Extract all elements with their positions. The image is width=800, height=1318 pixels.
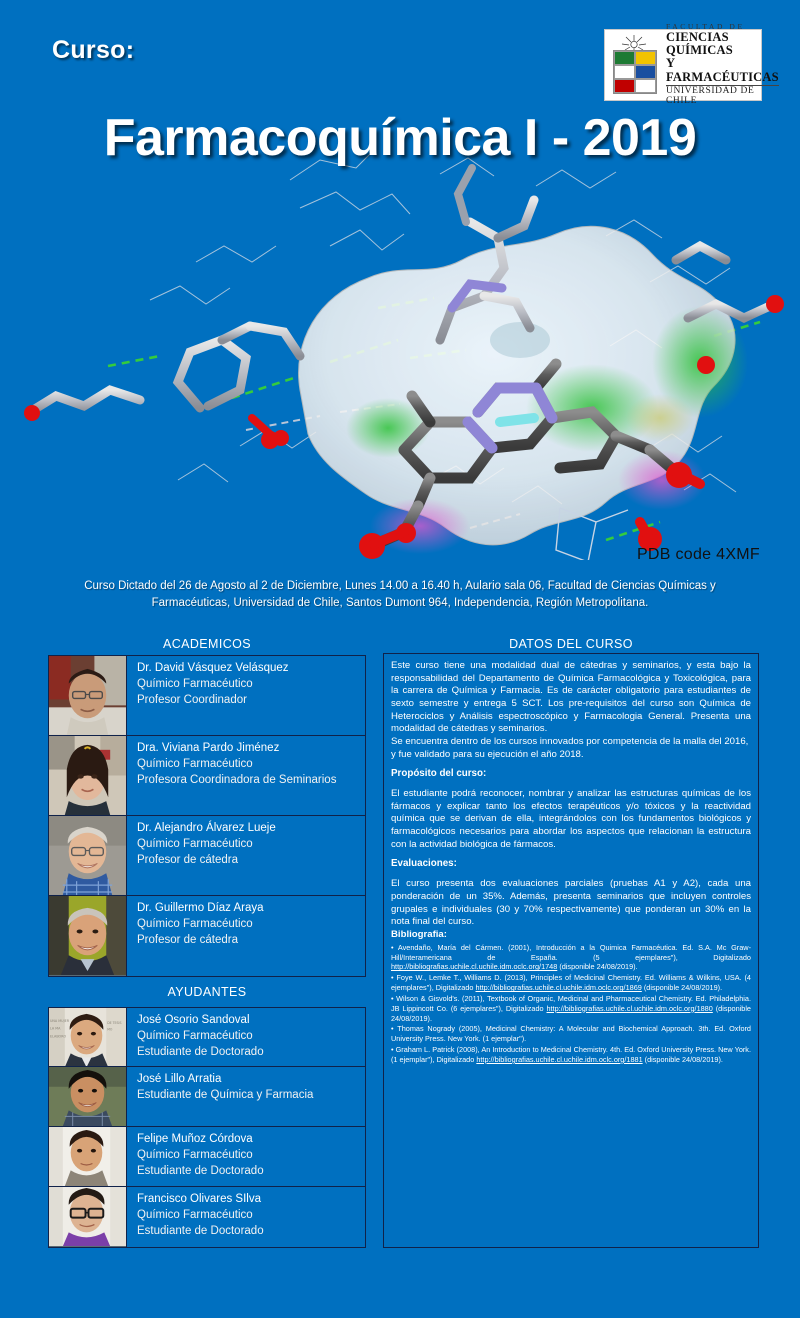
person-name: Dra. Viviana Pardo Jiménez <box>137 741 357 757</box>
table-row: UNA MUJERLA MAELABORO DE TESISMO José Os… <box>49 1008 365 1067</box>
bibliografia-link[interactable]: http://bibliografias.uchile.cl.uchile.id… <box>547 1004 713 1013</box>
logo-line-2: CIENCIAS QUÍMICAS <box>666 31 779 57</box>
person-details: Dr. David Vásquez Velásquez Químico Farm… <box>127 656 365 735</box>
svg-text:ELABORO: ELABORO <box>50 1035 67 1039</box>
person-role: Químico Farmacéutico <box>137 1029 357 1045</box>
bibliografia-item: • Wilson & Gisvold's. (2011), Textbook o… <box>391 994 751 1024</box>
person-name: Dr. Alejandro Álvarez Lueje <box>137 821 357 837</box>
person-role: Químico Farmacéutico <box>137 757 357 773</box>
person-position: Estudiante de Doctorado <box>137 1164 357 1180</box>
bibliografia-heading: Bibliografia: <box>391 929 751 942</box>
proposito-heading: Propósito del curso: <box>391 768 751 781</box>
logo-line-4: UNIVERSIDAD DE CHILE <box>666 85 779 107</box>
person-details: José Osorio Sandoval Químico Farmacéutic… <box>127 1008 365 1066</box>
curso-label: Curso: <box>52 36 134 65</box>
svg-text:DE TESIS: DE TESIS <box>107 1021 121 1025</box>
table-row: Dr. David Vásquez Velásquez Químico Farm… <box>49 656 365 736</box>
datos-curso-panel: Este curso tiene una modalidad dual de c… <box>383 653 759 1248</box>
person-name: José Osorio Sandoval <box>137 1013 357 1029</box>
person-role: Químico Farmacéutico <box>137 917 357 933</box>
table-row: Dr. Guillermo Díaz Araya Químico Farmacé… <box>49 896 365 976</box>
ayudantes-heading: AYUDANTES <box>48 985 366 999</box>
person-role: Estudiante de Química y Farmacia <box>137 1088 357 1104</box>
course-schedule-text: Curso Dictado del 26 de Agosto al 2 de D… <box>60 578 740 613</box>
portrait-photo <box>49 1127 126 1186</box>
bibliografia-item: • Avendaño, María del Cármen. (2001), In… <box>391 943 751 973</box>
person-details: Felipe Muñoz Córdova Químico Farmacéutic… <box>127 1127 365 1186</box>
datos-intro2: Se encuentra dentro de los cursos innova… <box>391 736 751 761</box>
bibliografia-item: • Foye W., Lemke T., Williams D. (2013),… <box>391 973 751 993</box>
person-name: Dr. David Vásquez Velásquez <box>137 661 357 677</box>
table-row: Felipe Muñoz Córdova Químico Farmacéutic… <box>49 1127 365 1187</box>
person-details: José Lillo Arratia Estudiante de Química… <box>127 1067 365 1126</box>
page-title: Farmacoquímica I - 2019 <box>0 108 800 168</box>
person-role: Químico Farmacéutico <box>137 1148 357 1164</box>
person-position: Estudiante de Doctorado <box>137 1045 357 1061</box>
avatar: UNA MUJERLA MAELABORO DE TESISMO <box>49 1008 127 1066</box>
academicos-heading: ACADEMICOS <box>48 637 366 651</box>
person-position: Profesor Coordinador <box>137 693 357 709</box>
person-role: Químico Farmacéutico <box>137 1208 357 1224</box>
bibliografia-link[interactable]: http://bibliografias.uchile.cl.uchile.id… <box>391 962 557 971</box>
person-details: Francisco Olivares SIlva Químico Farmacé… <box>127 1187 365 1247</box>
table-row: Dr. Alejandro Álvarez Lueje Químico Farm… <box>49 816 365 896</box>
ayudantes-table: UNA MUJERLA MAELABORO DE TESISMO José Os… <box>48 1007 366 1248</box>
table-row: Dra. Viviana Pardo Jiménez Químico Farma… <box>49 736 365 816</box>
avatar <box>49 736 127 815</box>
avatar <box>49 1187 127 1247</box>
datos-curso-heading: DATOS DEL CURSO <box>383 637 759 651</box>
person-name: José Lillo Arratia <box>137 1072 357 1088</box>
portrait-photo <box>49 896 126 975</box>
person-position: Profesor de cátedra <box>137 853 357 869</box>
person-name: Francisco Olivares SIlva <box>137 1192 357 1208</box>
faculty-logo: FACULTAD DE CIENCIAS QUÍMICAS Y FARMACÉU… <box>604 29 762 101</box>
svg-text:MO: MO <box>107 1028 113 1032</box>
evaluaciones-text: El curso presenta dos evaluaciones parci… <box>391 878 751 929</box>
pdb-code-label: PDB code 4XMF <box>637 546 760 564</box>
bibliografia-item: • Graham L. Patrick (2008), An Introduct… <box>391 1045 751 1065</box>
bibliografia-link[interactable]: http://bibliografias.uchile.cl.uchile.id… <box>476 1055 642 1064</box>
logo-wordmark: FACULTAD DE CIENCIAS QUÍMICAS Y FARMACÉU… <box>661 23 779 106</box>
person-position: Estudiante de Doctorado <box>137 1224 357 1240</box>
portrait-photo <box>49 816 126 895</box>
academicos-table: Dr. David Vásquez Velásquez Químico Farm… <box>48 655 366 977</box>
avatar <box>49 896 127 976</box>
table-row: Francisco Olivares SIlva Químico Farmacé… <box>49 1187 365 1247</box>
avatar <box>49 1067 127 1126</box>
evaluaciones-heading: Evaluaciones: <box>391 858 751 871</box>
person-details: Dra. Viviana Pardo Jiménez Químico Farma… <box>127 736 365 815</box>
logo-line-3: Y FARMACÉUTICAS <box>666 57 779 83</box>
bibliografia-item: • Thomas Nogrady (2005), Medicinal Chemi… <box>391 1024 751 1044</box>
person-position: Profesora Coordinadora de Seminarios <box>137 773 357 789</box>
avatar <box>49 1127 127 1186</box>
svg-text:UNA MUJER: UNA MUJER <box>50 1019 70 1023</box>
person-position: Profesor de cátedra <box>137 933 357 949</box>
proposito-text: El estudiante podrá reconocer, nombrar y… <box>391 788 751 851</box>
avatar <box>49 656 127 735</box>
person-details: Dr. Alejandro Álvarez Lueje Químico Farm… <box>127 816 365 895</box>
svg-text:LA MA: LA MA <box>50 1027 61 1031</box>
avatar <box>49 816 127 895</box>
portrait-photo <box>49 1187 126 1246</box>
person-name: Dr. Guillermo Díaz Araya <box>137 901 357 917</box>
person-details: Dr. Guillermo Díaz Araya Químico Farmacé… <box>127 896 365 976</box>
crest-shield-icon <box>613 50 657 94</box>
portrait-photo <box>49 1067 126 1126</box>
person-role: Químico Farmacéutico <box>137 837 357 853</box>
molecular-structure-figure <box>0 150 800 560</box>
portrait-photo <box>49 656 126 735</box>
portrait-photo: UNA MUJERLA MAELABORO DE TESISMO <box>49 1008 126 1066</box>
bibliografia-link[interactable]: http://bibliografias.uchile.cl.uchile.id… <box>476 983 642 992</box>
table-row: José Lillo Arratia Estudiante de Química… <box>49 1067 365 1127</box>
university-crest-icon <box>609 34 661 96</box>
datos-intro: Este curso tiene una modalidad dual de c… <box>391 660 751 736</box>
person-role: Químico Farmacéutico <box>137 677 357 693</box>
portrait-photo <box>49 736 126 815</box>
person-name: Felipe Muñoz Córdova <box>137 1132 357 1148</box>
